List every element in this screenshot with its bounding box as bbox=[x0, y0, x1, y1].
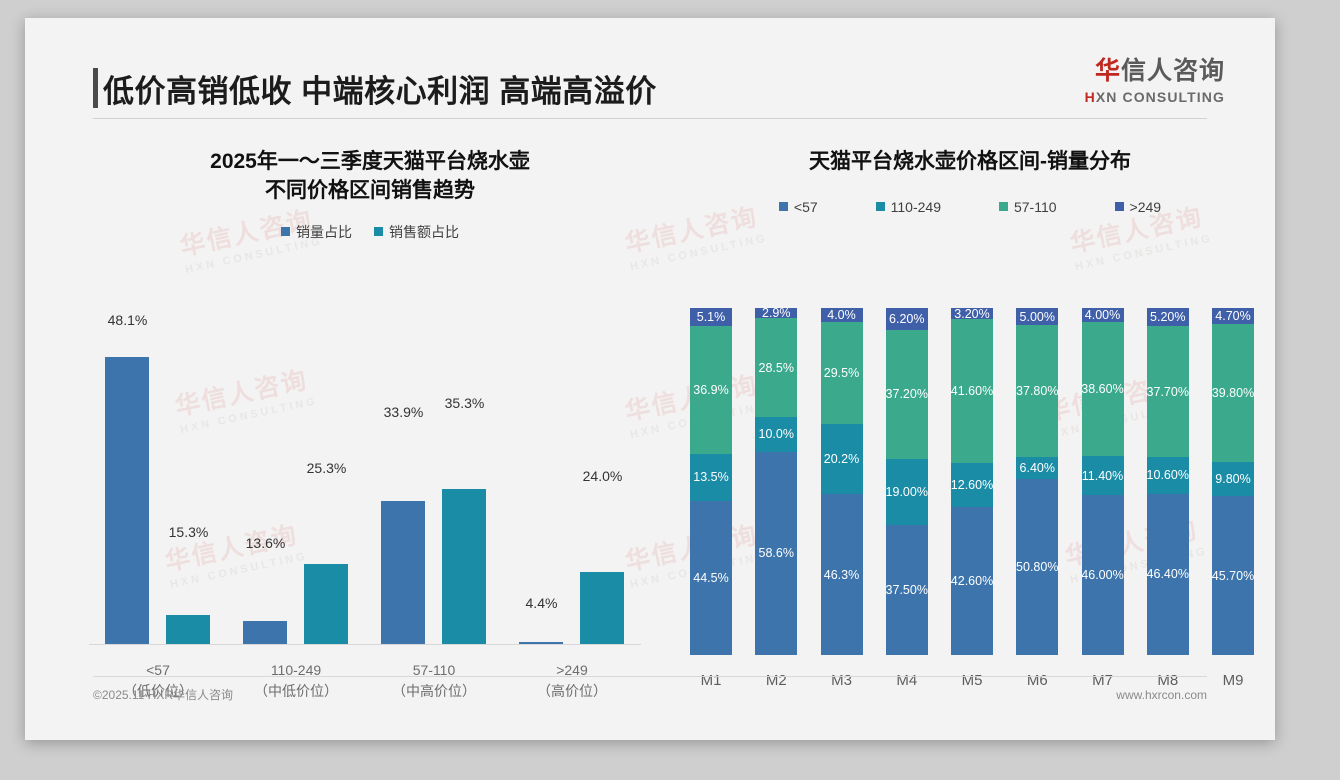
bar-column[interactable]: 48.1% bbox=[105, 333, 149, 644]
stack-segment-label: 58.6% bbox=[759, 546, 794, 560]
bar-value-label: 25.3% bbox=[307, 460, 347, 476]
stack-segment-label: 10.0% bbox=[759, 427, 794, 441]
legend-swatch-icon bbox=[281, 227, 290, 236]
bar-column[interactable]: 13.6% bbox=[243, 556, 287, 644]
stack-segment[interactable]: 45.70% bbox=[1212, 496, 1254, 655]
legend-swatch-icon bbox=[374, 227, 383, 236]
stack-segment[interactable]: 11.40% bbox=[1082, 456, 1124, 496]
slide-footer: ©2025.11 HXR华信人咨询 www.hxrcon.com bbox=[93, 686, 1207, 703]
stack-segment[interactable]: 12.60% bbox=[951, 463, 993, 507]
stack-segment[interactable]: 29.5% bbox=[821, 322, 863, 424]
stacked-bar-column[interactable]: 4.00%38.60%11.40%46.00% bbox=[1082, 308, 1124, 655]
stacked-bar-column[interactable]: 4.70%39.80%9.80%45.70% bbox=[1212, 308, 1254, 655]
stack-segment-label: 42.60% bbox=[951, 574, 993, 588]
stack-segment-label: 11.40% bbox=[1082, 469, 1123, 483]
legend-item-3[interactable]: 57-110 bbox=[999, 199, 1057, 215]
stack-segment-label: 45.70% bbox=[1212, 569, 1254, 583]
stack-segment-label: 20.2% bbox=[824, 452, 859, 466]
stack-segment-label: 4.0% bbox=[827, 308, 856, 322]
legend-item-2[interactable]: 销售额占比 bbox=[374, 222, 459, 242]
stack-segment[interactable]: 37.80% bbox=[1016, 325, 1058, 456]
stack-segment-label: 6.40% bbox=[1020, 461, 1055, 475]
legend-swatch-icon bbox=[779, 202, 788, 211]
header-divider bbox=[93, 118, 1207, 119]
bar[interactable] bbox=[381, 501, 425, 644]
page-title: 低价高销低收 中端核心利润 高端高溢价 bbox=[103, 66, 657, 111]
legend-item-4[interactable]: >249 bbox=[1115, 199, 1162, 215]
bar[interactable] bbox=[304, 564, 348, 644]
legend-item-label: 销量占比 bbox=[296, 222, 352, 242]
stack-segment-label: 5.20% bbox=[1150, 310, 1185, 324]
legend-swatch-icon bbox=[999, 202, 1008, 211]
slide-header: 低价高销低收 中端核心利润 高端高溢价 华信人咨询 HXN CONSULTING bbox=[25, 18, 1275, 118]
bar[interactable] bbox=[442, 489, 486, 644]
bar[interactable] bbox=[166, 615, 210, 644]
stack-segment-label: 10.60% bbox=[1147, 468, 1189, 482]
bar-value-label: 35.3% bbox=[445, 395, 485, 411]
x-axis-label-main: 110-249 bbox=[233, 660, 360, 680]
stacked-bar-column[interactable]: 6.20%37.20%19.00%37.50% bbox=[886, 308, 928, 655]
chart-title-left-line1: 2025年一～三季度天猫平台烧水壶 bbox=[65, 148, 675, 177]
stack-segment[interactable]: 19.00% bbox=[886, 459, 928, 525]
stack-segment[interactable]: 41.60% bbox=[951, 319, 993, 463]
chart-plot-left: 48.1%15.3%13.6%25.3%33.9%35.3%4.4%24.0% … bbox=[75, 308, 665, 703]
chart-legend-right: <57110-24957-110>249 bbox=[680, 199, 1260, 215]
stack-segment[interactable]: 38.60% bbox=[1082, 322, 1124, 456]
stacked-bar-column[interactable]: 5.20%37.70%10.60%46.40% bbox=[1147, 308, 1189, 655]
stack-segment-label: 37.50% bbox=[886, 583, 928, 597]
stack-segment[interactable]: 5.20% bbox=[1147, 308, 1189, 326]
stack-segment[interactable]: 46.3% bbox=[821, 494, 863, 655]
stack-segment[interactable]: 37.50% bbox=[886, 525, 928, 655]
title-accent-bar bbox=[93, 68, 98, 108]
stack-segment[interactable]: 37.20% bbox=[886, 330, 928, 459]
stack-segment-label: 13.5% bbox=[693, 470, 728, 484]
stack-segment[interactable]: 13.5% bbox=[690, 454, 732, 501]
stack-segment-label: 46.00% bbox=[1082, 568, 1124, 582]
bar[interactable] bbox=[243, 621, 287, 644]
stack-segment[interactable]: 6.40% bbox=[1016, 457, 1058, 479]
x-axis-label: M9 bbox=[1212, 672, 1254, 689]
legend-item-2[interactable]: 110-249 bbox=[876, 199, 941, 215]
chart-panel-right: 天猫平台烧水壶价格区间-销量分布 <57110-24957-110>249 5.… bbox=[680, 138, 1260, 708]
stack-segment-label: 44.5% bbox=[693, 571, 728, 585]
stacked-bar-column[interactable]: 4.0%29.5%20.2%46.3% bbox=[821, 308, 863, 655]
stack-segment-label: 12.60% bbox=[951, 478, 993, 492]
stack-segment[interactable]: 36.9% bbox=[690, 326, 732, 454]
legend-swatch-icon bbox=[1115, 202, 1124, 211]
stack-segment-label: 29.5% bbox=[824, 366, 859, 380]
stacked-bar-column[interactable]: 5.1%36.9%13.5%44.5% bbox=[690, 308, 732, 655]
stack-segment-label: 5.00% bbox=[1020, 310, 1055, 324]
stack-segment-label: 37.80% bbox=[1016, 384, 1058, 398]
stack-segment-label: 19.00% bbox=[886, 485, 928, 499]
stack-segment[interactable]: 9.80% bbox=[1212, 462, 1254, 496]
bar-column[interactable]: 15.3% bbox=[166, 545, 210, 644]
stack-segment-label: 28.5% bbox=[759, 361, 794, 375]
stack-segment[interactable]: 20.2% bbox=[821, 424, 863, 494]
bar-group: 4.4%24.0% bbox=[509, 308, 636, 644]
logo-chinese: 华信人咨询 bbox=[1085, 58, 1225, 86]
stacked-bar-column[interactable]: 3.20%41.60%12.60%42.60% bbox=[951, 308, 993, 655]
bar-column[interactable]: 24.0% bbox=[580, 489, 624, 644]
chart-legend-left: 销量占比销售额占比 bbox=[65, 222, 675, 242]
stack-segment[interactable]: 2.9% bbox=[755, 308, 797, 318]
bar-value-label: 33.9% bbox=[384, 404, 424, 420]
chart-title-right: 天猫平台烧水壶价格区间-销量分布 bbox=[680, 138, 1260, 177]
x-axis-line bbox=[89, 644, 641, 645]
stacked-bars: 5.1%36.9%13.5%44.5%2.9%28.5%10.0%58.6%4.… bbox=[690, 308, 1254, 655]
logo-english: HXN CONSULTING bbox=[1085, 89, 1225, 105]
stack-segment-label: 39.80% bbox=[1212, 386, 1254, 400]
stack-segment[interactable]: 37.70% bbox=[1147, 326, 1189, 457]
logo-chinese-rest: 信人咨询 bbox=[1121, 57, 1225, 85]
bar-column[interactable]: 35.3% bbox=[442, 416, 486, 644]
stack-segment-label: 46.3% bbox=[824, 568, 859, 582]
bar-groups: 48.1%15.3%13.6%25.3%33.9%35.3%4.4%24.0% bbox=[89, 308, 641, 644]
stacked-bar-column[interactable]: 5.00%37.80%6.40%50.80% bbox=[1016, 308, 1058, 655]
stack-segment-label: 6.20% bbox=[889, 312, 924, 326]
stack-segment[interactable]: 42.60% bbox=[951, 507, 993, 655]
stack-segment-label: 38.60% bbox=[1082, 382, 1124, 396]
x-axis-label-main: >249 bbox=[509, 660, 636, 680]
stack-segment[interactable]: 5.1% bbox=[690, 308, 732, 326]
footer-divider bbox=[93, 676, 1207, 677]
stack-segment[interactable]: 5.00% bbox=[1016, 308, 1058, 325]
stack-segment-label: 36.9% bbox=[693, 383, 728, 397]
chart-title-left-line2: 不同价格区间销售趋势 bbox=[65, 177, 675, 206]
legend-swatch-icon bbox=[876, 202, 885, 211]
stack-segment-label: 4.70% bbox=[1215, 309, 1250, 323]
stack-segment-label: 37.20% bbox=[886, 387, 928, 401]
slide: 华信人咨询 HXN CONSULTING 华信人咨询 HXN CONSULTIN… bbox=[25, 18, 1275, 740]
bar-column[interactable]: 33.9% bbox=[381, 425, 425, 644]
footer-copyright: ©2025.11 HXR华信人咨询 bbox=[93, 686, 233, 703]
stack-segment-label: 2.9% bbox=[762, 308, 791, 318]
logo-chinese-accent: 华 bbox=[1095, 57, 1121, 85]
bar-group: 33.9%35.3% bbox=[371, 308, 498, 644]
bar-column[interactable]: 25.3% bbox=[304, 481, 348, 644]
legend-item-label: >249 bbox=[1130, 199, 1162, 215]
stack-segment[interactable]: 46.00% bbox=[1082, 495, 1124, 655]
bar-group: 13.6%25.3% bbox=[233, 308, 360, 644]
stack-segment[interactable]: 28.5% bbox=[755, 318, 797, 417]
stack-segment[interactable]: 46.40% bbox=[1147, 494, 1189, 655]
stack-segment-label: 5.1% bbox=[697, 310, 726, 324]
x-axis-label-main: <57 bbox=[95, 660, 222, 680]
bar-value-label: 4.4% bbox=[526, 595, 558, 611]
stack-segment[interactable]: 44.5% bbox=[690, 501, 732, 655]
x-axis-label-main: 57-110 bbox=[371, 660, 498, 680]
chart-title-left: 2025年一～三季度天猫平台烧水壶 不同价格区间销售趋势 bbox=[65, 138, 675, 206]
bar[interactable] bbox=[105, 357, 149, 644]
stack-segment[interactable]: 10.60% bbox=[1147, 457, 1189, 494]
chart-plot-right: 5.1%36.9%13.5%44.5%2.9%28.5%10.0%58.6%4.… bbox=[680, 298, 1260, 703]
bar[interactable] bbox=[580, 572, 624, 644]
stack-segment-label: 46.40% bbox=[1147, 567, 1189, 581]
chart-panel-left: 2025年一～三季度天猫平台烧水壶 不同价格区间销售趋势 销量占比销售额占比 4… bbox=[65, 138, 675, 708]
stack-segment[interactable]: 58.6% bbox=[755, 452, 797, 655]
legend-item-1[interactable]: <57 bbox=[779, 199, 818, 215]
stack-segment[interactable]: 4.0% bbox=[821, 308, 863, 322]
bar-value-label: 24.0% bbox=[583, 468, 623, 484]
bar-column[interactable]: 4.4% bbox=[519, 616, 563, 644]
bar-group: 48.1%15.3% bbox=[95, 308, 222, 644]
bar-value-label: 13.6% bbox=[246, 535, 286, 551]
logo-english-rest: XN CONSULTING bbox=[1096, 89, 1225, 105]
stack-segment[interactable]: 50.80% bbox=[1016, 479, 1058, 655]
bar-value-label: 48.1% bbox=[108, 312, 148, 328]
stack-segment-label: 41.60% bbox=[951, 384, 993, 398]
stacked-bar-column[interactable]: 2.9%28.5%10.0%58.6% bbox=[755, 308, 797, 655]
stack-segment-label: 50.80% bbox=[1016, 560, 1058, 574]
stack-segment[interactable]: 4.00% bbox=[1082, 308, 1124, 322]
logo-english-accent: H bbox=[1085, 89, 1096, 105]
stack-segment-label: 37.70% bbox=[1147, 385, 1189, 399]
company-logo: 华信人咨询 HXN CONSULTING bbox=[1085, 58, 1225, 105]
stack-segment[interactable]: 6.20% bbox=[886, 308, 928, 330]
legend-item-label: 110-249 bbox=[891, 199, 941, 215]
stack-segment[interactable]: 4.70% bbox=[1212, 308, 1254, 324]
legend-item-label: 销售额占比 bbox=[389, 222, 459, 242]
stack-segment-label: 4.00% bbox=[1085, 308, 1120, 322]
stack-segment[interactable]: 39.80% bbox=[1212, 324, 1254, 462]
stack-segment-label: 9.80% bbox=[1215, 472, 1250, 486]
bar-value-label: 15.3% bbox=[169, 524, 209, 540]
stack-segment[interactable]: 10.0% bbox=[755, 417, 797, 452]
footer-website: www.hxrcon.com bbox=[1116, 688, 1207, 702]
legend-item-label: 57-110 bbox=[1014, 199, 1057, 215]
stack-segment[interactable]: 3.20% bbox=[951, 308, 993, 319]
legend-item-1[interactable]: 销量占比 bbox=[281, 222, 352, 242]
legend-item-label: <57 bbox=[794, 199, 818, 215]
stack-segment-label: 3.20% bbox=[954, 308, 989, 319]
